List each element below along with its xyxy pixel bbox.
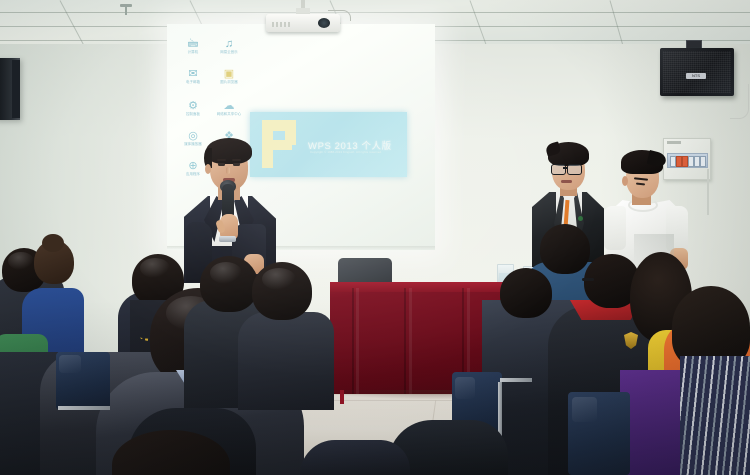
eyeglasses-temple-icon	[582, 278, 594, 281]
audience-head	[500, 268, 552, 318]
wall-speaker-right: NTS	[660, 40, 738, 98]
presenter-hair	[206, 138, 252, 164]
hair-highlight	[8, 252, 34, 270]
arm-left	[604, 206, 626, 250]
desktop-icon-glyph: ♫	[211, 38, 247, 50]
presenter-eye-left	[218, 163, 225, 166]
presenter-eye-right	[233, 163, 240, 166]
photo-scene: 🖮 计算机 ✉ 电子邮箱 ⚙ 控制面板 ◎ 媒体播放器 ⊕ 应用程序 ♫ 网易云…	[0, 0, 750, 475]
hair-highlight	[262, 268, 296, 290]
ear	[622, 176, 628, 186]
fire-sprinkler-icon	[120, 4, 132, 16]
desktop-icon-glyph: 🖮	[175, 38, 211, 50]
desktop-icon-label: 网络和共享中心	[211, 112, 247, 116]
desktop-icon-label: 网易云音乐	[211, 50, 247, 54]
audience-chair[interactable]	[56, 352, 110, 410]
eyeglasses-lens-left	[551, 164, 566, 175]
audience-body	[300, 440, 410, 475]
desktop-icon[interactable]: ⚙ 控制面板	[175, 100, 211, 116]
presenter-eyebrow-left	[217, 159, 226, 161]
man-in-white-tshirt	[604, 148, 688, 270]
audience-head	[540, 224, 590, 274]
lapel-pin-icon	[578, 216, 583, 221]
hair-highlight	[210, 262, 242, 284]
hair-bun	[42, 234, 64, 252]
desktop-icon[interactable]: 🖮 计算机	[175, 38, 211, 54]
desktop-icon-glyph: ☁	[211, 100, 247, 112]
desktop-icon-label: 计算机	[175, 50, 211, 54]
wall-speaker-left	[0, 58, 20, 120]
speaker-brand-badge: NTS	[686, 73, 706, 79]
desktop-icon-label: 控制面板	[175, 112, 211, 116]
wristwatch	[219, 236, 236, 242]
audience-body	[238, 312, 334, 410]
eyeglasses-bridge	[563, 167, 568, 169]
presenter-eyebrow-right	[232, 159, 241, 161]
desktop-icon[interactable]: ▣ 图片浏览器	[211, 68, 247, 84]
eyeglasses-lens-right	[567, 164, 582, 175]
desktop-icon[interactable]: ☁ 网络和共享中心	[211, 100, 247, 116]
ceiling-projector	[266, 8, 340, 34]
desktop-icon-glyph: ▣	[211, 68, 247, 80]
desktop-icon[interactable]: ✉ 电子邮箱	[175, 68, 211, 84]
desktop-icon[interactable]: ♫ 网易云音乐	[211, 38, 247, 54]
desktop-icon-glyph: ⚙	[175, 100, 211, 112]
chair-frame	[58, 406, 110, 410]
desktop-icon-glyph: ✉	[175, 68, 211, 80]
wps-copyright: Copyright © 1988-2013 Kingsoft. All righ…	[310, 150, 382, 154]
audience-chair[interactable]	[568, 392, 630, 475]
desktop-icon-label: 图片浏览器	[211, 80, 247, 84]
hair-highlight	[140, 258, 170, 278]
desktop-icon-label: 电子邮箱	[175, 80, 211, 84]
mouth	[561, 180, 572, 183]
presenter-ear	[205, 164, 211, 174]
chair-frame	[500, 378, 532, 382]
audience-body-striped	[680, 356, 750, 475]
presenter-nose	[226, 167, 230, 174]
